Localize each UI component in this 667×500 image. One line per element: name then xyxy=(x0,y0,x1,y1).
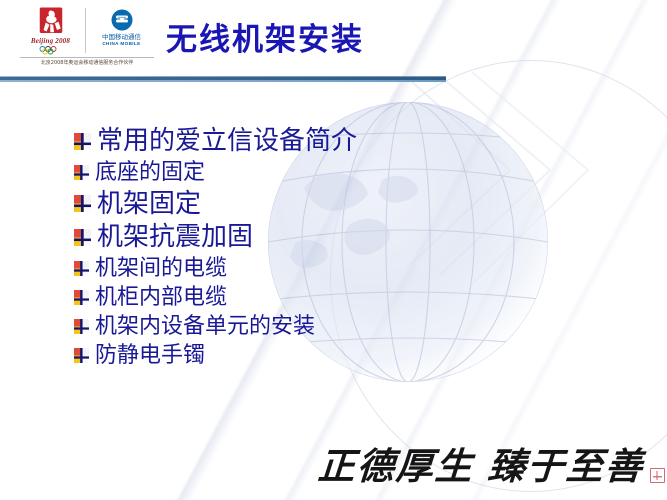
slide-title: 无线机架安装 xyxy=(166,22,364,58)
list-item: 机架间的电缆 xyxy=(74,256,594,282)
list-item-label: 常用的爱立信设备简介 xyxy=(97,126,357,157)
list-item: 常用的爱立信设备简介 xyxy=(74,126,594,157)
red-seal-stamp-icon xyxy=(650,468,665,483)
footer-slogan: 正德厚生臻于至善 xyxy=(318,444,665,488)
cross-bullet-icon xyxy=(74,195,91,212)
calligraphy-left: 正德厚生 xyxy=(316,444,475,488)
cross-bullet-icon xyxy=(74,290,89,305)
presentation-slide: Beijing 2008 xyxy=(0,0,667,500)
olympic-partner-caption: 北京2008年奥运会移动通信服务合作伙伴 xyxy=(20,57,154,67)
header-logos: Beijing 2008 xyxy=(17,6,157,67)
list-item-label: 机架间的电缆 xyxy=(95,256,227,282)
beijing-2008-olympic-logo: Beijing 2008 xyxy=(21,6,85,55)
list-item-label: 机柜内部电缆 xyxy=(95,285,227,311)
list-item-label: 机架固定 xyxy=(97,189,201,220)
rule-highlight-bottom xyxy=(0,80,446,82)
list-item: 机柜内部电缆 xyxy=(74,285,594,311)
olympic-rings-icon xyxy=(38,46,64,55)
logo-row: Beijing 2008 xyxy=(17,6,157,55)
logo-divider xyxy=(85,8,86,53)
list-item: 机架内设备单元的安装 xyxy=(74,314,594,340)
china-mobile-logo: 中国移动通信 CHINA MOBILE xyxy=(90,6,154,47)
olympic-seal-icon xyxy=(36,6,66,36)
list-item: 底座的固定 xyxy=(74,160,594,186)
cross-bullet-icon xyxy=(74,261,89,276)
list-item-label: 防静电手镯 xyxy=(95,343,205,369)
cross-bullet-icon xyxy=(74,348,89,363)
china-mobile-name-en: CHINA MOBILE xyxy=(90,41,154,47)
agenda-list: 常用的爱立信设备简介 底座的固定 xyxy=(74,126,594,372)
china-mobile-name-cn: 中国移动通信 xyxy=(90,33,154,41)
list-item-label: 机架抗震加固 xyxy=(97,222,253,253)
calligraphy-text: 正德厚生臻于至善 xyxy=(316,444,645,488)
olympic-wordmark: Beijing 2008 xyxy=(21,37,81,45)
list-item-label: 底座的固定 xyxy=(95,160,205,186)
title-underline-rule xyxy=(0,76,446,82)
china-mobile-mark-icon xyxy=(111,9,133,31)
list-item: 机架固定 xyxy=(74,189,594,220)
cross-bullet-icon xyxy=(74,165,89,180)
calligraphy-right: 臻于至善 xyxy=(486,444,645,488)
cross-bullet-icon xyxy=(74,229,91,246)
cross-bullet-icon xyxy=(74,319,89,334)
cross-bullet-icon xyxy=(74,133,91,150)
list-item: 防静电手镯 xyxy=(74,343,594,369)
list-item-label: 机架内设备单元的安装 xyxy=(95,314,315,340)
list-item: 机架抗震加固 xyxy=(74,222,594,253)
